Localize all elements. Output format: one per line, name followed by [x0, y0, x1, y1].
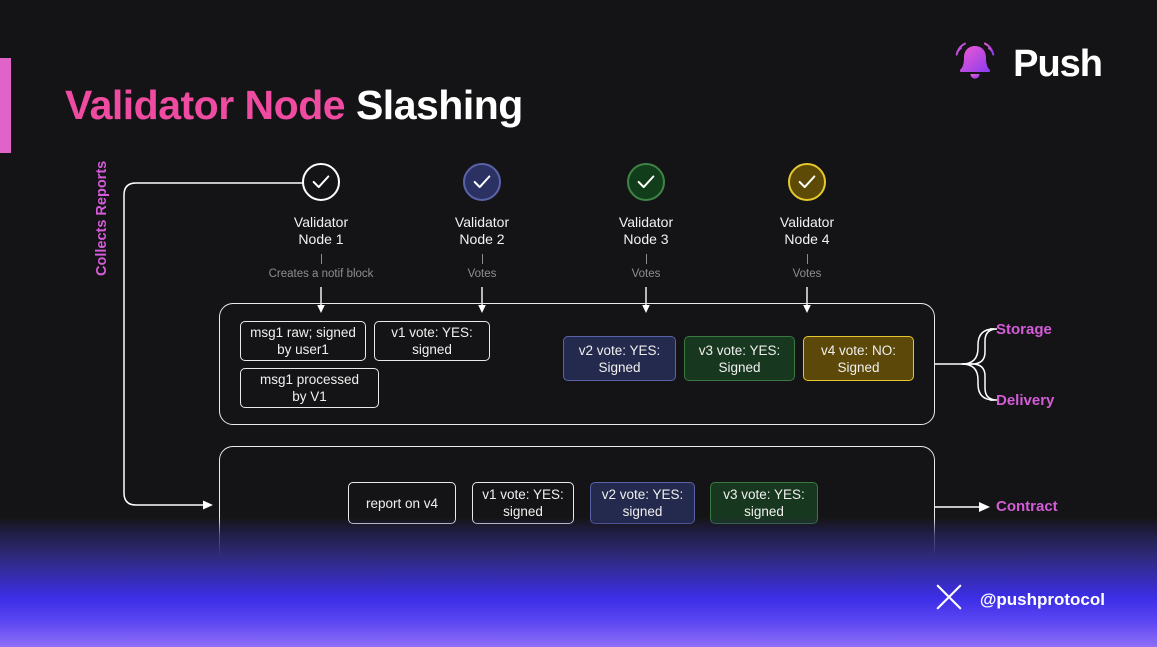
- slide-canvas: Validator Node Slashing: [0, 0, 1157, 647]
- contract-label: Contract: [996, 498, 1058, 515]
- page-title-highlight: Validator Node: [65, 82, 345, 128]
- chip-v1-vote: v1 vote: YES:signed: [374, 321, 490, 361]
- node-tick: [321, 254, 322, 264]
- chip-msg1-processed: msg1 processedby V1: [240, 368, 379, 408]
- node-tick: [807, 254, 808, 264]
- social-handle[interactable]: @pushprotocol: [934, 582, 1105, 617]
- notification-block-panel: msg1 raw; signedby user1 v1 vote: YES:si…: [219, 303, 935, 425]
- node-tick: [646, 254, 647, 264]
- validator-node-2[interactable]: Validator Node 2 Votes: [407, 163, 557, 318]
- chip-report-v3-vote: v3 vote: YES:signed: [710, 482, 818, 524]
- node-title: Validator Node 1: [246, 214, 396, 248]
- check-circle-icon: [627, 163, 665, 201]
- page-title-plain: Slashing: [345, 82, 523, 128]
- node-title: Validator Node 3: [571, 214, 721, 248]
- node-subtitle: Votes: [407, 268, 557, 280]
- validator-node-1[interactable]: Validator Node 1 Creates a notif block: [246, 163, 396, 318]
- bell-icon: [949, 36, 1001, 93]
- brand-logo: Push: [949, 36, 1102, 93]
- page-title: Validator Node Slashing: [65, 82, 523, 129]
- chip-msg1-raw: msg1 raw; signedby user1: [240, 321, 366, 361]
- chip-report-v2-vote: v2 vote: YES:signed: [590, 482, 695, 524]
- node-tick: [482, 254, 483, 264]
- chip-v4-vote: v4 vote: NO:Signed: [803, 336, 914, 381]
- title-accent-bar: [0, 58, 11, 153]
- x-twitter-icon: [934, 582, 964, 617]
- storage-label: Storage: [996, 321, 1052, 338]
- node-subtitle: Creates a notif block: [246, 268, 396, 280]
- chip-v2-vote: v2 vote: YES:Signed: [563, 336, 676, 381]
- report-panel: report on v4 v1 vote: YES:signed v2 vote…: [219, 446, 935, 563]
- check-circle-icon: [302, 163, 340, 201]
- chip-report-v1-vote: v1 vote: YES:signed: [472, 482, 574, 524]
- check-circle-icon: [463, 163, 501, 201]
- delivery-label: Delivery: [996, 392, 1054, 409]
- validator-node-4[interactable]: Validator Node 4 Votes: [732, 163, 882, 318]
- chip-report-on-v4: report on v4: [348, 482, 456, 524]
- node-title: Validator Node 4: [732, 214, 882, 248]
- collects-reports-label: Collects Reports: [94, 161, 110, 276]
- chip-v3-vote: v3 vote: YES:Signed: [684, 336, 795, 381]
- brand-name: Push: [1013, 43, 1102, 86]
- node-title: Validator Node 2: [407, 214, 557, 248]
- validator-node-3[interactable]: Validator Node 3 Votes: [571, 163, 721, 318]
- node-subtitle: Votes: [732, 268, 882, 280]
- handle-text: @pushprotocol: [980, 590, 1105, 610]
- node-subtitle: Votes: [571, 268, 721, 280]
- check-circle-icon: [788, 163, 826, 201]
